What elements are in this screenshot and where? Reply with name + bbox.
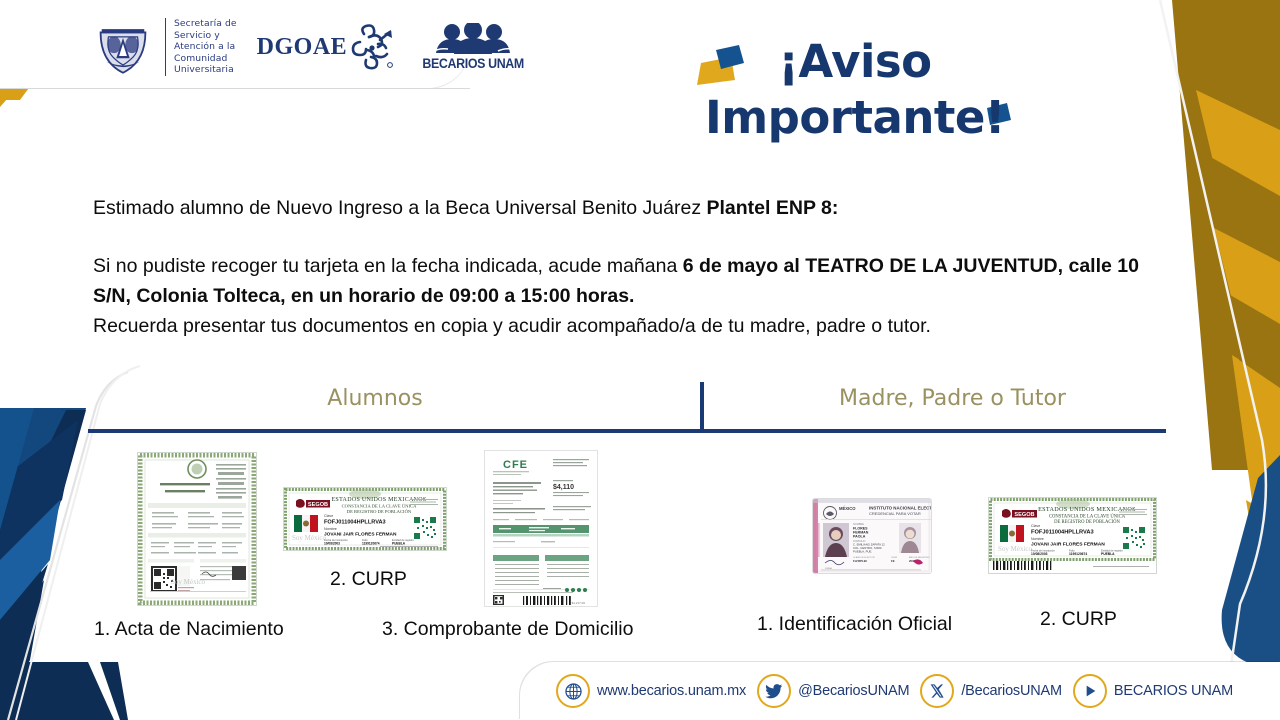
segob-label: SEGOB [308, 502, 328, 508]
announcement-body: Estimado alumno de Nuevo Ingreso a la Be… [93, 193, 1178, 341]
instructions-plain: Si no pudiste recoger tu tarjeta en la f… [93, 255, 683, 277]
svg-text:PUEBLA, PUE.: PUEBLA, PUE. [853, 550, 872, 554]
curp-document-thumbnail-2: SEGOB ESTADOS UNIDOS MEXICANOS CONSTANCI… [988, 497, 1157, 574]
dgoae-knot-icon [350, 24, 394, 70]
svg-text:FE: FE [891, 559, 895, 563]
globe-icon [556, 674, 590, 708]
becarios-label: BECARIOS UNAM [423, 56, 524, 71]
svg-text:Soy México: Soy México [998, 545, 1033, 553]
dgoae-label: DGOAE [257, 34, 348, 61]
svg-text:1199120674: 1199120674 [1069, 552, 1087, 556]
svg-text:PUEBLA: PUEBLA [1101, 552, 1115, 556]
footer-item-x[interactable]: /BecariosUNAM [920, 674, 1062, 708]
institution-line-1: Secretaría de [174, 18, 237, 29]
twitter-bird-icon [757, 674, 791, 708]
svg-text:FOFJ011004HPLLRVA3: FOFJ011004HPLLRVA3 [1031, 530, 1094, 536]
svg-text:DE REGISTRO DE POBLACIÓN: DE REGISTRO DE POBLACIÓN [1054, 519, 1120, 525]
column-heading-alumnos: Alumnos [175, 386, 575, 411]
footer-social-row: www.becarios.unam.mx @BecariosUNAM /Beca… [556, 662, 1280, 720]
institution-line-4: Comunidad [174, 53, 237, 64]
svg-text:Nombre: Nombre [1031, 537, 1044, 541]
greeting-plain: Estimado alumno de Nuevo Ingreso a la Be… [93, 197, 707, 219]
doc-label-acta: 1. Acta de Nacimiento [94, 618, 284, 641]
svg-text:Soy México: Soy México [292, 534, 327, 542]
greeting-bold: Plantel ENP 8: [707, 197, 839, 219]
footer-item-twitter[interactable]: @BecariosUNAM [757, 674, 909, 708]
footer-x-text: /BecariosUNAM [961, 683, 1062, 699]
curp-clave-value: FOFJ011004HPLLRVA3 [324, 520, 386, 526]
paragraph-reminder: Recuerda presentar tus documentos en cop… [93, 311, 1178, 341]
doc-label-comprobante: 3. Comprobante de Domicilio [382, 618, 633, 641]
horizontal-divider [88, 429, 1166, 433]
svg-text:1199120674: 1199120674 [362, 542, 380, 546]
slide-canvas: Secretaría de Servicio y Atención a la C… [0, 0, 1280, 720]
svg-text:Clave: Clave [1031, 524, 1040, 528]
institution-name: Secretaría de Servicio y Atención a la C… [165, 18, 237, 75]
svg-text:Soy México: Soy México [171, 578, 206, 586]
dgoae-logo: DGOAE [257, 24, 395, 70]
becarios-logo: BECARIOS UNAM [418, 23, 528, 71]
ine-country-label: MÉXICO [839, 506, 856, 511]
svg-text:Clave: Clave [324, 514, 333, 518]
svg-text:PAOLA: PAOLA [853, 535, 866, 539]
footer-youtube-text: BECARIOS UNAM [1114, 683, 1233, 699]
doc-label-curp-alumno: 2. CURP [330, 568, 407, 591]
curp-nombre-value: JOVANI JAIR FLORES FERMAN [324, 532, 397, 538]
svg-text:INSTITUTO NACIONAL ELECTORAL: INSTITUTO NACIONAL ELECTORAL [869, 506, 931, 511]
svg-text:10/08/2003: 10/08/2003 [1031, 552, 1048, 556]
page-title: ¡Aviso Importante! [640, 34, 1070, 146]
paragraph-greeting: Estimado alumno de Nuevo Ingreso a la Be… [93, 193, 1178, 223]
becarios-people-icon [432, 23, 514, 55]
svg-text:DE REGISTRO DE POBLACIÓN: DE REGISTRO DE POBLACIÓN [347, 509, 412, 514]
svg-text:JOVANI JAIR FLORES FERMAN: JOVANI JAIR FLORES FERMAN [1031, 542, 1105, 548]
footer-item-youtube[interactable]: BECARIOS UNAM [1073, 674, 1233, 708]
svg-text:10/08/2003: 10/08/2003 [324, 542, 340, 546]
institution-line-2: Servicio y [174, 30, 237, 41]
page-title-line1: ¡Aviso [640, 34, 1070, 90]
svg-text:$4,110: $4,110 [553, 484, 574, 491]
paragraph-spacer [93, 223, 1178, 251]
footer-twitter-text: @BecariosUNAM [798, 683, 909, 699]
svg-text:CONSTANCIA DE LA CLAVE ÚNICA: CONSTANCIA DE LA CLAVE ÚNICA [1049, 514, 1126, 520]
svg-text:$1,217.00: $1,217.00 [572, 601, 586, 605]
x-logo-icon [920, 674, 954, 708]
svg-text:FLFRPL90: FLFRPL90 [853, 559, 867, 563]
svg-text:PUEBLA: PUEBLA [392, 542, 406, 546]
unam-shield-icon [95, 19, 151, 75]
utility-bill-thumbnail: CFE $4,110 [484, 450, 598, 607]
institution-line-5: Universitaria [174, 64, 237, 75]
cfe-logo-label: CFE [503, 459, 528, 471]
svg-text:SEGOB: SEGOB [1014, 512, 1034, 518]
play-button-icon [1073, 674, 1107, 708]
svg-text:CREDENCIAL PARA VOTAR: CREDENCIAL PARA VOTAR [869, 511, 921, 516]
ine-id-card-thumbnail: MÉXICO INSTITUTO NACIONAL ELECTORAL CRED… [812, 498, 932, 574]
column-heading-tutor: Madre, Padre o Tutor [750, 386, 1155, 411]
svg-text:Nombre: Nombre [324, 527, 337, 531]
page-title-line2: Importante! [640, 90, 1070, 146]
svg-text:CONSTANCIA DE LA CLAVE ÚNICA: CONSTANCIA DE LA CLAVE ÚNICA [342, 504, 418, 509]
birth-certificate-thumbnail: Soy México [137, 452, 257, 606]
header-logo-row: Secretaría de Servicio y Atención a la C… [95, 17, 529, 77]
footer-website-text: www.becarios.unam.mx [597, 683, 746, 699]
doc-label-curp-tutor: 2. CURP [1040, 608, 1117, 631]
institution-line-3: Atención a la [174, 41, 237, 52]
curp-document-thumbnail: SEGOB ESTADOS UNIDOS MEXICANOS CONSTANCI… [283, 487, 447, 551]
paragraph-instructions: Si no pudiste recoger tu tarjeta en la f… [93, 251, 1178, 311]
footer-item-website[interactable]: www.becarios.unam.mx [556, 674, 746, 708]
doc-label-identificacion: 1. Identificación Oficial [757, 613, 952, 636]
vertical-divider [700, 382, 704, 432]
